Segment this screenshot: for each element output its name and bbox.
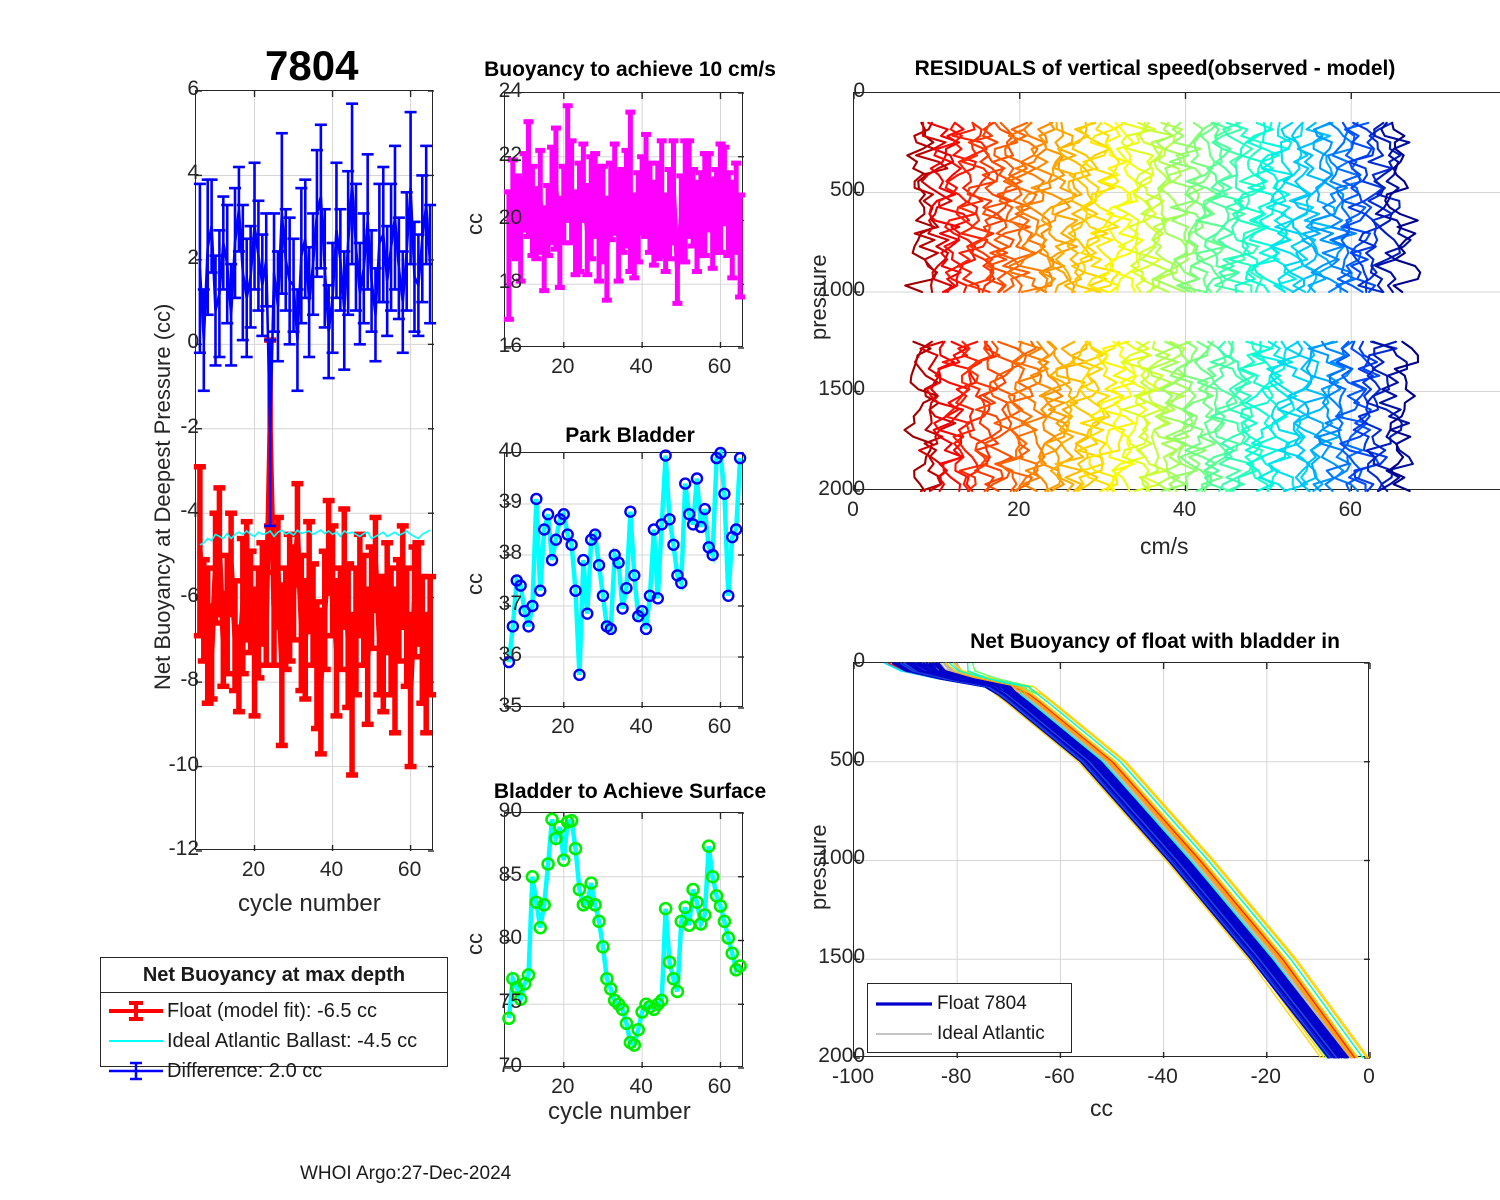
plot-area-net-buoyancy-deepest [196,91,434,851]
plot-area-bladder-surface [505,813,744,1068]
x-tick-label: 60 [370,858,450,882]
axes-residuals [853,92,1500,490]
legend-label-float-7804: Float 7804 [937,993,1027,1015]
x-tick-label: 40 [292,858,372,882]
legend-item-ideal-atlantic-ballast: Ideal Atlantic Ballast: -4.5 cc [105,1026,447,1056]
axes-bladder-surface [504,812,743,1067]
panel-residuals: RESIDUALS of vertical speed(observed - m… [800,0,1500,580]
x-tick-label: 40 [1145,498,1225,522]
panel-title-net-buoyancy-bladder-in: Net Buoyancy of float with bladder in [820,630,1490,654]
y-tick-label: 70 [440,1054,522,1078]
y-tick-label: 90 [440,799,522,823]
x-tick-label: 20 [523,1075,603,1099]
errorbar-blue-icon [105,1056,167,1086]
x-tick-label: 60 [679,1075,759,1099]
y-tick-label: 6 [117,77,199,101]
y-tick-label: 500 [783,748,865,772]
line-navy-icon [871,989,937,1019]
x-tick-label: 80 [1476,498,1500,522]
axes-net-buoyancy-deepest [195,90,433,850]
x-tick-label: -80 [916,1065,996,1089]
legend-net-buoyancy-max-depth: Net Buoyancy at max depth Float (model f… [100,957,448,1067]
legend-item-float-7804: Float 7804 [871,989,1071,1019]
axis-label-x-cmps: cm/s [1140,533,1189,560]
y-tick-label: 0 [783,79,865,103]
x-tick-label: 0 [813,498,893,522]
x-tick-label: -20 [1226,1065,1306,1089]
panel-title-residuals: RESIDUALS of vertical speed(observed - m… [820,57,1490,81]
legend-label-ideal-atlantic-ballast: Ideal Atlantic Ballast: -4.5 cc [167,1030,417,1053]
figure-footer-credit: WHOI Argo:27-Dec-2024 [300,1163,511,1185]
y-tick-label: -12 [117,837,199,861]
x-tick-label: 0 [1329,1065,1409,1089]
legend-label-difference: Difference: 2.0 cc [167,1060,322,1083]
axis-label-x-cycle-number-2: cycle number [548,1098,691,1126]
line-gray-icon [871,1019,937,1049]
x-tick-label: 20 [979,498,1059,522]
axis-label-x-cc: cc [1090,1095,1113,1122]
y-tick-label: 85 [440,863,522,887]
y-tick-label: 4 [117,161,199,185]
panel-bladder-surface: Bladder to Achieve Surface 9085807570204… [440,0,800,1140]
y-tick-label: 1500 [783,377,865,401]
legend-item-float-model-fit: Float (model fit): -6.5 cc [105,996,447,1026]
axis-label-y-pressure-2: pressure [806,824,832,910]
axis-label-y-cc-3: cc [462,933,488,955]
y-tick-label: 75 [440,990,522,1014]
x-tick-label: 40 [601,1075,681,1099]
axis-label-y-pressure-1: pressure [806,254,832,340]
legend-label-float-model-fit: Float (model fit): -6.5 cc [167,1000,377,1023]
x-tick-label: 20 [214,858,294,882]
line-cyan-icon [105,1026,167,1056]
x-tick-label: -40 [1123,1065,1203,1089]
legend-label-ideal-atlantic: Ideal Atlantic [937,1023,1045,1045]
legend-item-difference: Difference: 2.0 cc [105,1056,447,1086]
y-tick-label: 0 [783,649,865,673]
y-tick-label: 500 [783,178,865,202]
x-tick-label: 60 [1310,498,1390,522]
errorbar-red-icon [105,996,167,1026]
y-tick-label: 2 [117,246,199,270]
panel-net-buoyancy-bladder-in: Net Buoyancy of float with bladder in 05… [800,600,1500,1160]
legend-header: Net Buoyancy at max depth [101,958,447,993]
legend-float-vs-ideal: Float 7804 Ideal Atlantic [867,983,1072,1053]
plot-area-residuals [854,93,1500,491]
x-tick-label: -60 [1019,1065,1099,1089]
panel-net-buoyancy-deepest: 6420-2-4-6-8-10-12204060 Net Buoyancy at… [0,0,450,960]
y-tick-label: 1500 [783,945,865,969]
x-tick-label: -100 [813,1065,893,1089]
legend-item-ideal-atlantic: Ideal Atlantic [871,1019,1071,1049]
y-tick-label: -10 [117,753,199,777]
axis-label-y-net-buoyancy: Net Buoyancy at Deepest Pressure (cc) [150,304,176,690]
axis-label-x-cycle-number-1: cycle number [238,890,381,918]
